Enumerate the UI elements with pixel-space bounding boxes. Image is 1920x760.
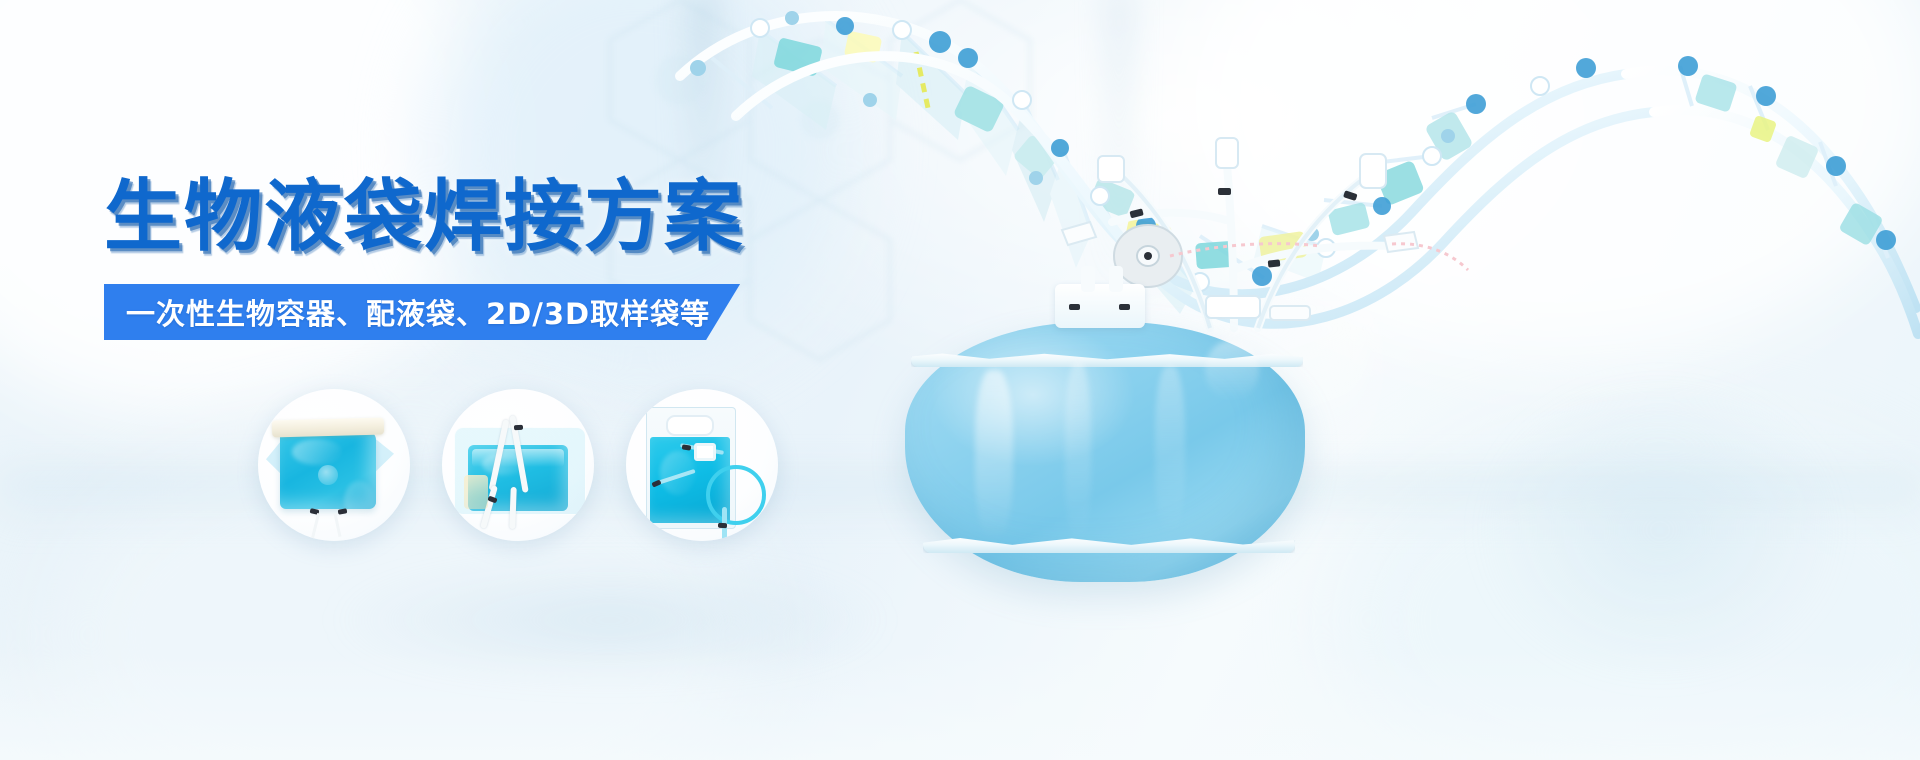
hero-banner: 生物液袋焊接方案 一次性生物容器、配液袋、2D/3D取样袋等 bbox=[0, 0, 1920, 760]
bottom-fade bbox=[0, 650, 1920, 760]
subtitle-text: 一次性生物容器、配液袋、2D/3D取样袋等 bbox=[126, 291, 710, 333]
product-circle-cube-bag[interactable] bbox=[442, 389, 594, 541]
page-title: 生物液袋焊接方案 bbox=[104, 178, 744, 256]
subtitle-ribbon: 一次性生物容器、配液袋、2D/3D取样袋等 bbox=[104, 284, 740, 340]
product-circle-pillow-bag[interactable] bbox=[258, 389, 410, 541]
sampling-bag-icon bbox=[626, 389, 778, 541]
headline-block: 生物液袋焊接方案 bbox=[104, 178, 744, 256]
cube-3d-bag-icon bbox=[442, 389, 594, 541]
product-circle-sampling-bag[interactable] bbox=[626, 389, 778, 541]
pillow-liquid-bag-icon bbox=[258, 389, 410, 541]
bioreactor-bag bbox=[905, 300, 1305, 600]
